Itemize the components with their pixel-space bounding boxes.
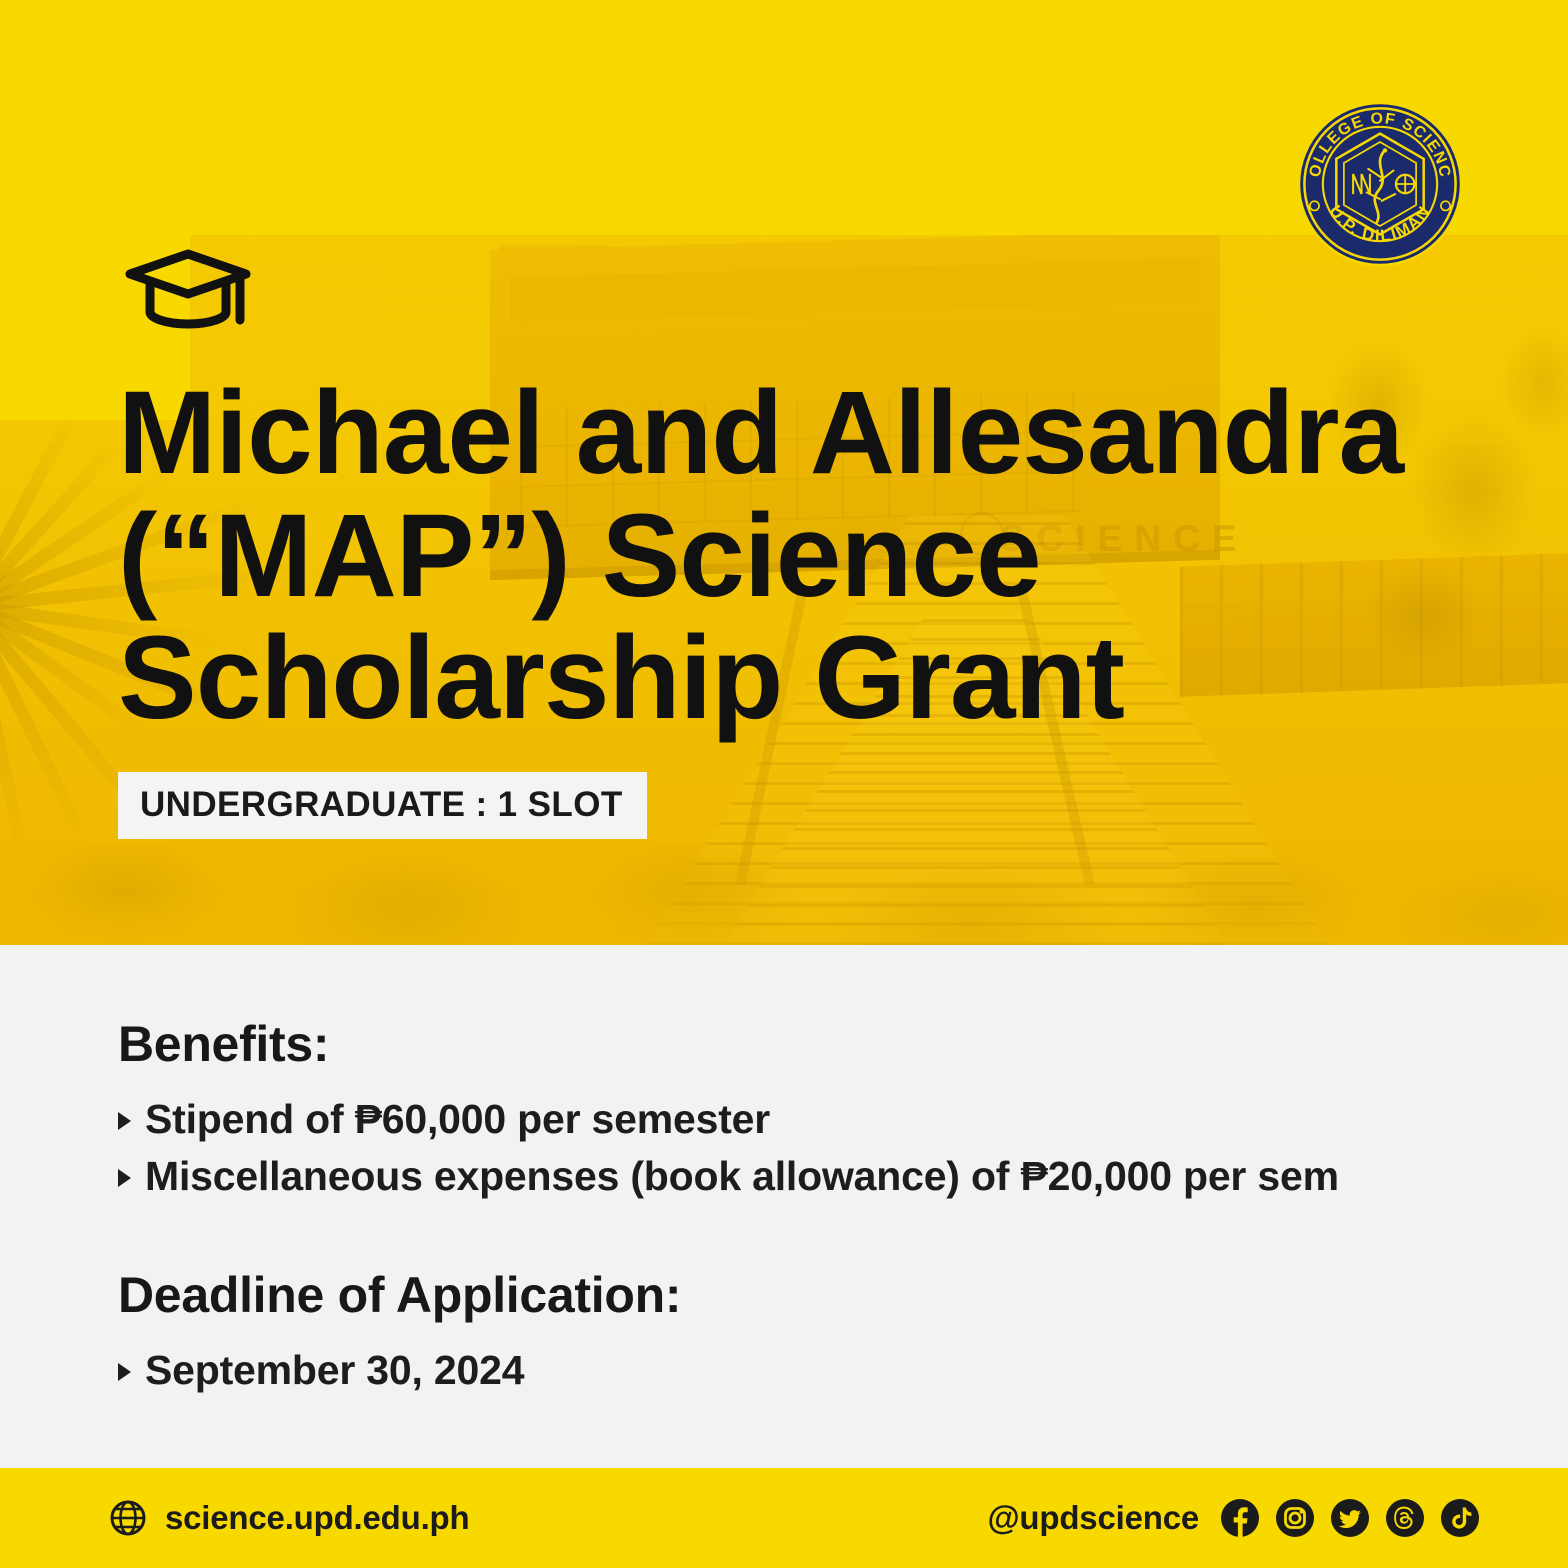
globe-icon xyxy=(108,1498,148,1538)
benefits-list: Stipend of ₱60,000 per semester Miscella… xyxy=(118,1091,1568,1204)
hero-section: SCIENCE xyxy=(0,0,1568,945)
bullet-triangle-icon xyxy=(118,1169,131,1187)
bullet-triangle-icon xyxy=(118,1112,131,1130)
list-item: Miscellaneous expenses (book allowance) … xyxy=(118,1148,1568,1205)
benefit-text: Miscellaneous expenses (book allowance) … xyxy=(145,1148,1339,1205)
list-item: Stipend of ₱60,000 per semester xyxy=(118,1091,1568,1148)
deadline-text: September 30, 2024 xyxy=(145,1342,524,1399)
graduation-cap-icon xyxy=(122,248,254,330)
twitter-icon[interactable] xyxy=(1330,1498,1370,1538)
threads-icon[interactable] xyxy=(1385,1498,1425,1538)
title-line-3: Scholarship Grant xyxy=(118,617,1448,740)
footer-bar: science.upd.edu.ph @updscience xyxy=(0,1468,1568,1568)
scholarship-poster: SCIENCE xyxy=(0,0,1568,1568)
list-item: September 30, 2024 xyxy=(118,1342,1568,1399)
title-line-2: (“MAP”) Science xyxy=(118,495,1448,618)
benefits-heading: Benefits: xyxy=(118,1015,1568,1073)
benefit-text: Stipend of ₱60,000 per semester xyxy=(145,1091,770,1148)
website-group[interactable]: science.upd.edu.ph xyxy=(108,1498,469,1538)
slot-badge: UNDERGRADUATE : 1 SLOT xyxy=(118,772,647,839)
deadline-list: September 30, 2024 xyxy=(118,1342,1568,1399)
title-line-1: Michael and Allesandra xyxy=(118,372,1448,495)
facebook-icon[interactable] xyxy=(1220,1498,1260,1538)
college-of-science-seal: COLLEGE OF SCIENCE U.P. DILIMAN xyxy=(1296,100,1464,268)
website-url[interactable]: science.upd.edu.ph xyxy=(165,1499,469,1537)
page-title: Michael and Allesandra (“MAP”) Science S… xyxy=(118,372,1448,740)
details-section: Benefits: Stipend of ₱60,000 per semeste… xyxy=(0,945,1568,1468)
social-group: @updscience xyxy=(987,1498,1480,1538)
tiktok-icon[interactable] xyxy=(1440,1498,1480,1538)
deadline-heading: Deadline of Application: xyxy=(118,1266,1568,1324)
social-handle: @updscience xyxy=(987,1499,1199,1537)
bullet-triangle-icon xyxy=(118,1363,131,1381)
instagram-icon[interactable] xyxy=(1275,1498,1315,1538)
